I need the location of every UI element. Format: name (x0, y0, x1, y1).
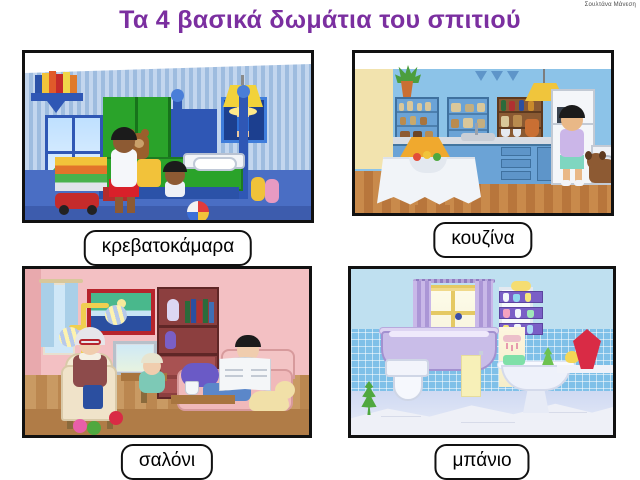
livingroom-vase (167, 299, 179, 321)
bathroom-marble-vein (381, 416, 421, 418)
room-card-bedroom[interactable]: κρεβατοκάμαρα (22, 50, 314, 264)
illustration-kitchen (352, 50, 614, 216)
bedroom-yellow-shirt (137, 159, 161, 187)
room-label-bedroom[interactable]: κρεβατοκάμαρα (84, 230, 252, 266)
bedroom-book (70, 75, 77, 93)
kitchen-shelf (449, 113, 487, 115)
kitchen-bottle (509, 101, 515, 111)
kitchen-shelf (397, 111, 437, 113)
room-label-kitchen[interactable]: κουζίνα (433, 222, 532, 258)
bedroom-toy-pile (55, 157, 107, 191)
bathroom-toiletry (503, 309, 510, 318)
kitchen-faucet (475, 123, 478, 135)
kitchen-table-leg (415, 205, 420, 216)
kitchen-bottle (501, 100, 506, 111)
bedroom-book (49, 71, 56, 93)
bedroom-mother-body (111, 149, 137, 187)
livingroom-book (191, 299, 196, 323)
kitchen-sink (461, 133, 495, 141)
livingroom-book (209, 302, 214, 323)
livingroom-newspaper-text (251, 369, 267, 371)
bathroom-soap (503, 355, 525, 365)
kitchen-jar (425, 102, 431, 111)
bedroom-book (42, 73, 49, 93)
kitchen-dish (463, 118, 473, 128)
kitchen-dish (477, 119, 485, 128)
bedroom-book (35, 75, 42, 93)
bedroom-book (56, 74, 63, 93)
kitchen-boy-leg (563, 167, 570, 181)
kitchen-fruit (413, 153, 421, 161)
bathroom-basket (511, 281, 531, 291)
room-label-bathroom[interactable]: μπάνιο (434, 444, 529, 480)
bathroom-toiletry (525, 293, 531, 302)
kitchen-boy-shoe (561, 180, 571, 186)
kitchen-lamp-rod (543, 69, 545, 85)
kitchen-drawer (501, 171, 531, 180)
bathroom-toiletry (513, 294, 520, 302)
livingroom-coffee-table (171, 395, 235, 404)
kitchen-jar (400, 117, 406, 125)
bathroom-shower-head (503, 335, 521, 342)
kitchen-dog-ear (585, 151, 592, 160)
bathroom-window-mullion (431, 311, 475, 315)
kitchen-fruit (423, 151, 431, 159)
livingroom-eyeglasses (79, 339, 101, 345)
bedroom-bedpost-knob (171, 89, 184, 102)
livingroom-bookcase-shelf (159, 325, 217, 328)
bathroom-water-drop (511, 345, 513, 351)
kitchen-drawer (501, 159, 531, 168)
kitchen-boy-leg (575, 167, 582, 181)
bedroom-teddy-face (134, 139, 144, 148)
bathroom-toiletry (527, 325, 533, 334)
livingroom-newspaper-text (225, 369, 243, 371)
room-card-bathroom[interactable]: μπάνιο (348, 266, 616, 480)
livingroom-newspaper-text (225, 375, 243, 377)
kitchen-bottle (519, 100, 524, 111)
kitchen-dish (451, 103, 461, 112)
kitchen-jar (501, 116, 509, 127)
bathroom-water-drop (516, 343, 518, 349)
illustration-bathroom (348, 266, 616, 438)
kitchen-shelf (397, 125, 437, 127)
livingroom-dog-head (275, 381, 295, 399)
livingroom-curtain (41, 283, 54, 347)
kitchen-jar (407, 101, 413, 111)
livingroom-book (203, 299, 208, 323)
illustration-bedroom (22, 50, 314, 223)
bedroom-pillow (193, 157, 237, 171)
bedroom-doll (265, 179, 279, 203)
kitchen-boy-shorts (560, 155, 584, 169)
room-card-kitchen[interactable]: κουζίνα (352, 50, 614, 258)
kitchen-cup (501, 129, 510, 137)
livingroom-book (197, 301, 202, 323)
bathroom-towel (461, 355, 481, 397)
bathroom-bathtub-inner (389, 331, 489, 337)
kitchen-jar (417, 103, 422, 111)
bathroom-toiletry (527, 310, 534, 318)
bedroom-bookshelf (31, 93, 83, 101)
kitchen-bottle (528, 101, 534, 111)
kitchen-jar (410, 116, 416, 125)
livingroom-yarn-ball (109, 411, 123, 425)
kitchen-boy-body (560, 129, 584, 157)
livingroom-newspaper-text (251, 375, 267, 377)
bedroom-toy-car-wheel (87, 205, 97, 215)
kitchen-drawer (501, 147, 531, 156)
bathroom-toiletry (503, 293, 509, 302)
kitchen-dish (465, 104, 474, 112)
livingroom-mug (185, 381, 199, 395)
kitchen-dish (451, 119, 459, 128)
livingroom-yarn-ball (87, 421, 101, 435)
kitchen-dish (477, 103, 485, 112)
livingroom-lampshade (105, 305, 127, 325)
kitchen-table-leg (445, 205, 450, 216)
kitchen-shelf (499, 111, 541, 113)
bedroom-ball (187, 201, 209, 223)
kitchen-jar (513, 115, 522, 127)
livingroom-lamp-arm (83, 303, 109, 308)
livingroom-newspaper (219, 357, 271, 391)
bedroom-teddy-ear (141, 129, 149, 137)
bedroom-toy-car-wheel (59, 205, 69, 215)
livingroom-book (185, 301, 190, 323)
bedroom-book (63, 72, 70, 93)
bedroom-doll (251, 177, 265, 201)
bathroom-toiletry (515, 309, 521, 318)
room-card-living-room[interactable]: σαλόνι (22, 266, 312, 480)
kitchen-fruit (433, 153, 441, 161)
room-label-living-room[interactable]: σαλόνι (121, 444, 213, 480)
kitchen-jar (399, 103, 404, 111)
kitchen-table-leg (471, 203, 476, 216)
kitchen-cup (513, 129, 521, 137)
kitchen-left-wall (355, 69, 393, 169)
kitchen-pitcher (525, 119, 539, 137)
kitchen-shelf (449, 129, 487, 131)
kitchen-table-leg (385, 203, 390, 216)
livingroom-knitting (83, 385, 103, 409)
kitchen-ceiling (355, 53, 611, 69)
illustration-living-room (22, 266, 312, 438)
bathroom-marble-vein (461, 422, 515, 424)
bedroom-bedpost-knob (237, 85, 250, 98)
page-title: Τα 4 βασικά δωμάτια του σπιτιού (0, 6, 640, 35)
livingroom-yarn-ball (73, 419, 87, 433)
rooms-grid: κρεβατοκάμαρα (0, 44, 640, 480)
bathroom-window-decor (455, 313, 462, 320)
bathroom-water-drop (506, 343, 508, 349)
livingroom-flower-pot (165, 331, 176, 349)
kitchen-boy-shoe (574, 180, 584, 186)
kitchen-dog-ear (599, 151, 606, 160)
kitchen-jar (420, 117, 427, 125)
livingroom-bookcase-shelf (159, 353, 217, 356)
